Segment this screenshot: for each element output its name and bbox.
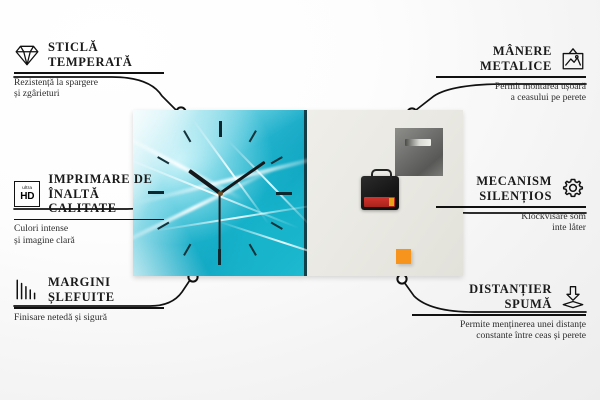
callout-title-line2: ȘLEFUITE xyxy=(48,290,115,305)
battery-tip xyxy=(389,198,394,206)
callout-title-line1: STICLĂ xyxy=(48,40,132,55)
callout-sub-line1: Permite menținerea unei distanțe xyxy=(412,319,586,331)
callout-rule xyxy=(14,219,164,221)
clock-hour-hand xyxy=(188,169,221,195)
callout-sub-line1: Culori intense xyxy=(14,223,164,235)
gear-icon xyxy=(560,176,586,202)
callout-sub-line1: Rezistență la spargere xyxy=(14,77,164,89)
callout-sub-line2: și imagine clară xyxy=(14,235,164,247)
metal-hanger-plate xyxy=(395,128,443,176)
callout-sticla-temperata: STICLĂ TEMPERATĂ Rezistență la spargere … xyxy=(14,40,164,100)
ultra-hd-icon-small-text: ultra xyxy=(22,186,32,191)
callout-sub-line2: a ceasului pe perete xyxy=(436,92,586,104)
clock-center-cap xyxy=(218,191,223,196)
callout-sub-line1: Klockvisare som xyxy=(436,211,586,223)
callout-rule xyxy=(436,206,586,208)
callout-sub-line2: inte låter xyxy=(436,222,586,234)
arrow-down-pad-icon xyxy=(560,284,586,310)
clock-second-hand xyxy=(219,193,221,251)
ultra-hd-icon: ultra HD xyxy=(14,181,40,207)
callout-title-line1: MÂNERE xyxy=(480,44,552,59)
callout-rule xyxy=(412,314,586,316)
callout-rule xyxy=(436,76,586,78)
quartz-movement-box xyxy=(361,176,399,210)
callout-sub-line2: constante între ceas și perete xyxy=(412,330,586,342)
product-image xyxy=(133,110,463,276)
callout-margini-slefuite: MARGINI ȘLEFUITE Finisare netedă și sigu… xyxy=(14,275,164,323)
callout-mecanism-silentios: MECANISM SILENȚIOS Klockvisare som inte … xyxy=(436,174,586,234)
clock-minute-hand xyxy=(219,161,265,194)
ultra-hd-icon-big-text: HD xyxy=(20,192,34,202)
callout-title-line2: ÎNALTĂ CALITATE xyxy=(48,187,164,216)
callout-imprimare-hd: ultra HD IMPRIMARE DE ÎNALTĂ CALITATE Cu… xyxy=(14,172,164,246)
picture-hanger-icon xyxy=(560,46,586,72)
callout-title-line2: SPUMĂ xyxy=(469,297,552,312)
callout-sub-line1: Finisare netedă și sigură xyxy=(14,312,164,324)
callout-distantier-spuma: DISTANȚIER SPUMĂ Permite menținerea unei… xyxy=(412,282,586,342)
callout-rule xyxy=(14,307,164,309)
callout-title-line2: SILENȚIOS xyxy=(476,189,552,204)
hanger-slot xyxy=(405,139,431,146)
beveled-edge-icon xyxy=(14,277,40,303)
callout-title-line2: METALICE xyxy=(480,59,552,74)
callout-sub-line1: Permit montarea ușoară xyxy=(436,81,586,93)
callout-rule xyxy=(14,72,164,74)
callout-sub-line2: și zgârieturi xyxy=(14,88,164,100)
callout-title-line1: MECANISM xyxy=(476,174,552,189)
foam-spacer-pad xyxy=(396,249,411,264)
callout-title-line1: MARGINI xyxy=(48,275,115,290)
mechanism-loop xyxy=(371,169,392,180)
callout-title-line2: TEMPERATĂ xyxy=(48,55,132,70)
battery xyxy=(364,197,395,207)
callout-manere-metalice: MÂNERE METALICE Permit montarea ușoară a… xyxy=(436,44,586,104)
diamond-icon xyxy=(14,42,40,68)
callout-title-line1: DISTANȚIER xyxy=(469,282,552,297)
callout-title-line1: IMPRIMARE DE xyxy=(48,172,164,187)
infographic-canvas: STICLĂ TEMPERATĂ Rezistență la spargere … xyxy=(0,0,600,400)
